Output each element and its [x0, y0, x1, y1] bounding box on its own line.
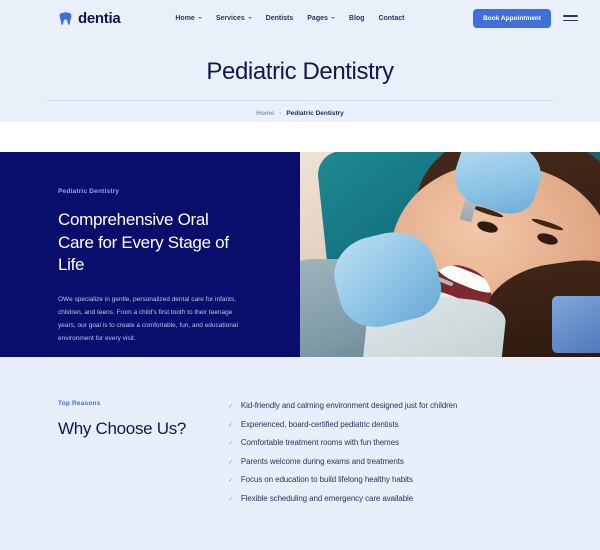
header-actions: Book Appointment — [473, 9, 578, 28]
list-item-label: Kid-friendly and calming environment des… — [241, 401, 458, 410]
main-nav: Home Services Dentists Pages Blog Contac… — [175, 15, 404, 22]
list-item: ✓ Experienced, board-certified pediatric… — [228, 420, 457, 429]
nav-item-dentists[interactable]: Dentists — [266, 15, 294, 22]
check-icon: ✓ — [228, 422, 234, 429]
check-icon: ✓ — [228, 496, 234, 503]
page-banner: Pediatric Dentistry Home › Pediatric Den… — [0, 36, 600, 122]
nav-label: Blog — [349, 15, 365, 22]
list-item-label: Focus on education to build lifelong hea… — [241, 475, 413, 484]
why-choose-us-heading-block: Top Reasons Why Choose Us? — [58, 400, 228, 550]
list-item: ✓ Comfortable treatment rooms with fun t… — [228, 438, 457, 447]
hero-text-panel: Pediatric Dentistry Comprehensive Oral C… — [0, 152, 300, 357]
list-item-label: Experienced, board-certified pediatric d… — [241, 420, 399, 429]
hamburger-menu-icon[interactable] — [563, 15, 578, 21]
site-header: dentia Home Services Dentists Pages Blog — [0, 0, 600, 36]
page-title: Pediatric Dentistry — [206, 58, 393, 86]
page-root: dentia Home Services Dentists Pages Blog — [0, 0, 600, 550]
nav-label: Dentists — [266, 15, 294, 22]
hero-body-text: OWe specialize in gentle, personalized d… — [58, 293, 246, 345]
nav-item-pages[interactable]: Pages — [307, 15, 335, 22]
reasons-title: Why Choose Us? — [58, 419, 228, 439]
why-choose-us-section: Top Reasons Why Choose Us? ✓ Kid-friendl… — [0, 357, 600, 550]
reasons-eyebrow: Top Reasons — [58, 400, 228, 407]
site-logo[interactable]: dentia — [58, 10, 120, 27]
nav-item-home[interactable]: Home — [175, 15, 201, 22]
tooth-icon — [58, 11, 73, 26]
nav-label: Services — [216, 15, 245, 22]
breadcrumb-current: Pediatric Dentistry — [286, 110, 343, 117]
check-icon: ✓ — [228, 440, 234, 447]
list-item: ✓ Parents welcome during exams and treat… — [228, 457, 457, 466]
nav-item-contact[interactable]: Contact — [378, 15, 404, 22]
list-item: ✓ Focus on education to build lifelong h… — [228, 475, 457, 484]
check-icon: ✓ — [228, 477, 234, 484]
book-appointment-button[interactable]: Book Appointment — [473, 9, 551, 28]
chevron-down-icon — [198, 17, 202, 19]
breadcrumb-home-link[interactable]: Home — [256, 110, 274, 117]
list-item-label: Flexible scheduling and emergency care a… — [241, 494, 413, 503]
list-item: ✓ Flexible scheduling and emergency care… — [228, 494, 457, 503]
check-icon: ✓ — [228, 403, 234, 410]
nav-label: Home — [175, 15, 194, 22]
nav-label: Pages — [307, 15, 328, 22]
check-icon: ✓ — [228, 459, 234, 466]
breadcrumb: Home › Pediatric Dentistry — [256, 110, 344, 117]
hero-heading: Comprehensive Oral Care for Every Stage … — [58, 209, 246, 277]
breadcrumb-separator-icon: › — [279, 111, 281, 117]
hero-eyebrow: Pediatric Dentistry — [58, 188, 246, 195]
nav-item-services[interactable]: Services — [216, 15, 252, 22]
list-item: ✓ Kid-friendly and calming environment d… — [228, 401, 457, 410]
chevron-down-icon — [331, 17, 335, 19]
dentist-child-photo — [300, 152, 600, 357]
hero-section: Pediatric Dentistry Comprehensive Oral C… — [0, 152, 600, 357]
list-item-label: Parents welcome during exams and treatme… — [241, 457, 404, 466]
list-item-label: Comfortable treatment rooms with fun the… — [241, 438, 399, 447]
reasons-list: ✓ Kid-friendly and calming environment d… — [228, 401, 457, 550]
chevron-down-icon — [248, 17, 252, 19]
hero-image — [300, 152, 600, 357]
logo-text: dentia — [78, 10, 120, 27]
nav-label: Contact — [378, 15, 404, 22]
banner-divider — [46, 100, 554, 101]
nav-item-blog[interactable]: Blog — [349, 15, 365, 22]
